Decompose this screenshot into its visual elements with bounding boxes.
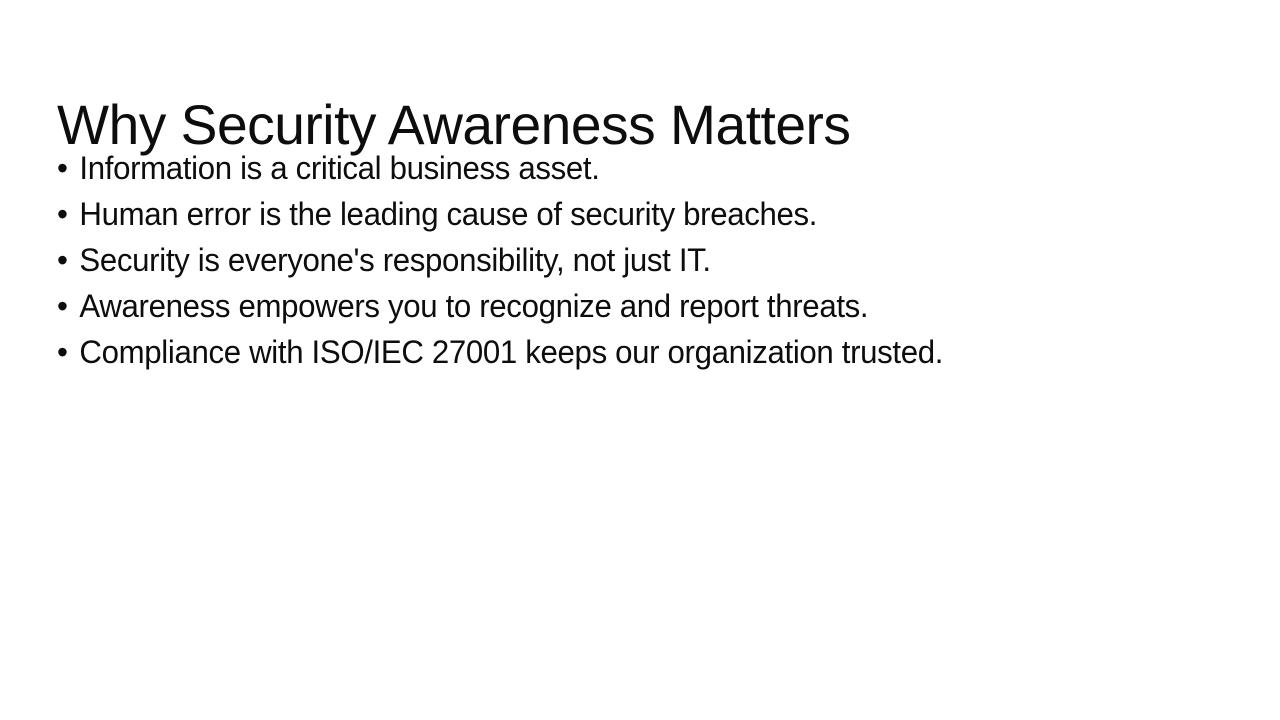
bullet-point-icon: • [57,283,79,329]
list-item-label: Information is a critical business asset… [79,150,599,186]
bullet-point-icon: • [57,329,79,375]
presentation-slide: Why Security Awareness Matters • Informa… [0,0,1280,720]
bullet-list: • Information is a critical business ass… [57,145,1217,375]
bullet-point-icon: • [57,191,79,237]
list-item: • Human error is the leading cause of se… [57,191,1188,237]
bullet-point-icon: • [57,145,79,191]
list-item: • Compliance with ISO/IEC 27001 keeps ou… [57,329,1188,375]
list-item-label: Security is everyone's responsibility, n… [79,242,710,278]
list-item-label: Awareness empowers you to recognize and … [79,288,868,324]
list-item-label: Human error is the leading cause of secu… [79,196,817,232]
bullet-point-icon: • [57,237,79,283]
list-item: • Awareness empowers you to recognize an… [57,283,1188,329]
list-item: • Information is a critical business ass… [57,145,1188,191]
list-item-label: Compliance with ISO/IEC 27001 keeps our … [79,334,943,370]
list-item: • Security is everyone's responsibility,… [57,237,1188,283]
